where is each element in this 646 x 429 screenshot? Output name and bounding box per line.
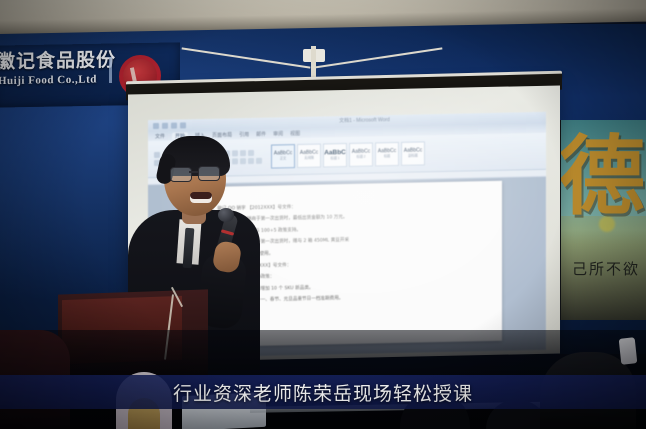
- customize-icon[interactable]: [180, 122, 186, 128]
- style-heading-2[interactable]: AaBbCc 标题 2: [349, 142, 373, 167]
- wall-mural: 德 ，己所不欲: [556, 120, 646, 320]
- caption-bar: 行业资深老师陈荣岳现场轻松授课: [0, 375, 646, 409]
- style-title[interactable]: AaBbCc 标题: [375, 142, 399, 167]
- mural-shadow-overlay: [561, 120, 646, 320]
- tab-review[interactable]: 审阅: [273, 130, 283, 137]
- screen-mount-post: [311, 46, 316, 80]
- style-heading-1-label: 标题 1: [330, 157, 339, 160]
- company-name-cn: 徽记食品股份: [0, 51, 116, 72]
- speaker-glasses-right-lens: [198, 166, 220, 181]
- speaker-mouth: [190, 192, 212, 203]
- style-normal-label: 正文: [280, 158, 286, 161]
- banner-divider: [109, 57, 112, 83]
- style-no-spacing[interactable]: AaBbCc 无间隔: [297, 144, 321, 169]
- style-normal[interactable]: AaBbCc 正文: [271, 144, 295, 169]
- doc-line-3: 公司提货给与 100+5 政策支持。: [232, 225, 486, 235]
- tab-view[interactable]: 视图: [290, 129, 300, 136]
- save-icon[interactable]: [153, 122, 159, 128]
- undo-icon[interactable]: [162, 122, 168, 128]
- styles-gallery[interactable]: AaBbCc 正文 AaBbCc 无间隔 AaBbC 标题 1 AaBbCc 标…: [271, 141, 425, 168]
- speaker-glasses-bridge: [189, 171, 199, 173]
- audience-phone: [619, 337, 638, 365]
- microphone-head-icon: [218, 208, 234, 222]
- speaker-glasses-left-lens: [170, 167, 192, 182]
- window-title: 文档1 - Microsoft Word: [339, 116, 390, 124]
- doc-line-5: 客户品鉴样品使用。: [232, 248, 486, 258]
- style-title-label: 标题: [384, 155, 390, 158]
- lecture-photo-scene: 徽记食品股份 Huiji Food Co.,Ltd 德 ，己所不欲 文档1 - …: [0, 0, 646, 429]
- redo-icon[interactable]: [171, 122, 177, 128]
- style-heading-1[interactable]: AaBbC 标题 1: [323, 143, 347, 168]
- style-no-spacing-label: 无间隔: [304, 157, 314, 160]
- style-subtitle-label: 副标题: [408, 155, 418, 158]
- style-heading-2-label: 标题 2: [356, 156, 365, 159]
- style-subtitle[interactable]: AaBbCc 副标题: [401, 141, 425, 166]
- caption-text: 行业资深老师陈荣岳现场轻松授课: [173, 379, 473, 406]
